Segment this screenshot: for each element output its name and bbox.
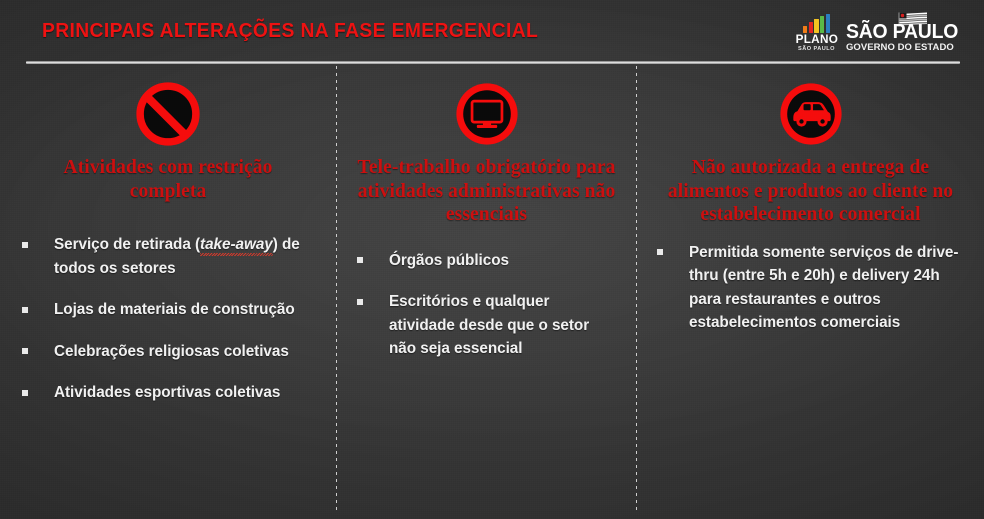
column-2-icon-wrap — [337, 80, 636, 148]
car-prohibition-icon — [777, 80, 845, 148]
column-1-heading: Atividades com restrição completa — [0, 156, 336, 203]
list-item: Serviço de retirada (take-away) de todos… — [18, 233, 322, 280]
column-3-icon-wrap — [637, 80, 984, 148]
column-restricted-activities: Atividades com restrição completa Serviç… — [0, 66, 336, 423]
column-delivery-restriction: Não autorizada a entrega de alimentos e … — [637, 66, 984, 335]
column-3-bullet-list: Permitida somente serviços de drive-thru… — [637, 241, 984, 335]
plano-logo-word: PLANO — [795, 34, 838, 46]
list-item: Celebrações religiosas coletivas — [18, 340, 322, 364]
slide-title: PRINCIPAIS ALTERAÇÕES NA FASE EMERGENCIA… — [42, 19, 538, 43]
list-item: Órgãos públicos — [353, 249, 618, 273]
sao-paulo-state-logo: SÃO PAULO GOVERNO DO ESTADO — [846, 14, 962, 53]
misspelled-word: take-away — [200, 236, 273, 253]
slide-header: PRINCIPAIS ALTERAÇÕES NA FASE EMERGENCIA… — [0, 0, 984, 64]
column-1-bullet-list: Serviço de retirada (take-away) de todos… — [0, 233, 336, 405]
column-3-heading: Não autorizada a entrega de alimentos e … — [637, 156, 984, 227]
list-item: Escritórios e qualquer atividade desde q… — [353, 290, 618, 361]
column-remote-work: Tele-trabalho obrigatório para atividade… — [337, 66, 636, 379]
column-2-heading: Tele-trabalho obrigatório para atividade… — [337, 156, 636, 227]
state-logo-line2: GOVERNO DO ESTADO — [846, 42, 954, 53]
computer-monitor-icon — [453, 80, 521, 148]
no-entry-prohibition-icon — [134, 80, 202, 148]
list-item: Atividades esportivas coletivas — [18, 381, 322, 405]
list-item: Lojas de materiais de construção — [18, 298, 322, 322]
column-1-icon-wrap — [0, 80, 336, 148]
list-item: Permitida somente serviços de drive-thru… — [653, 241, 960, 335]
slide-canvas: PRINCIPAIS ALTERAÇÕES NA FASE EMERGENCIA… — [0, 0, 984, 519]
bar-chart-logo-icon — [803, 14, 830, 33]
plano-sao-paulo-logo: PLANO SÃO PAULO — [796, 14, 838, 53]
column-2-bullet-list: Órgãos públicos Escritórios e qualquer a… — [337, 249, 636, 361]
plano-logo-subtitle: SÃO PAULO — [798, 46, 835, 53]
header-divider-rule — [26, 61, 960, 64]
logo-group: PLANO SÃO PAULO — [796, 9, 962, 53]
state-logo-line1: SÃO PAULO — [846, 22, 958, 42]
